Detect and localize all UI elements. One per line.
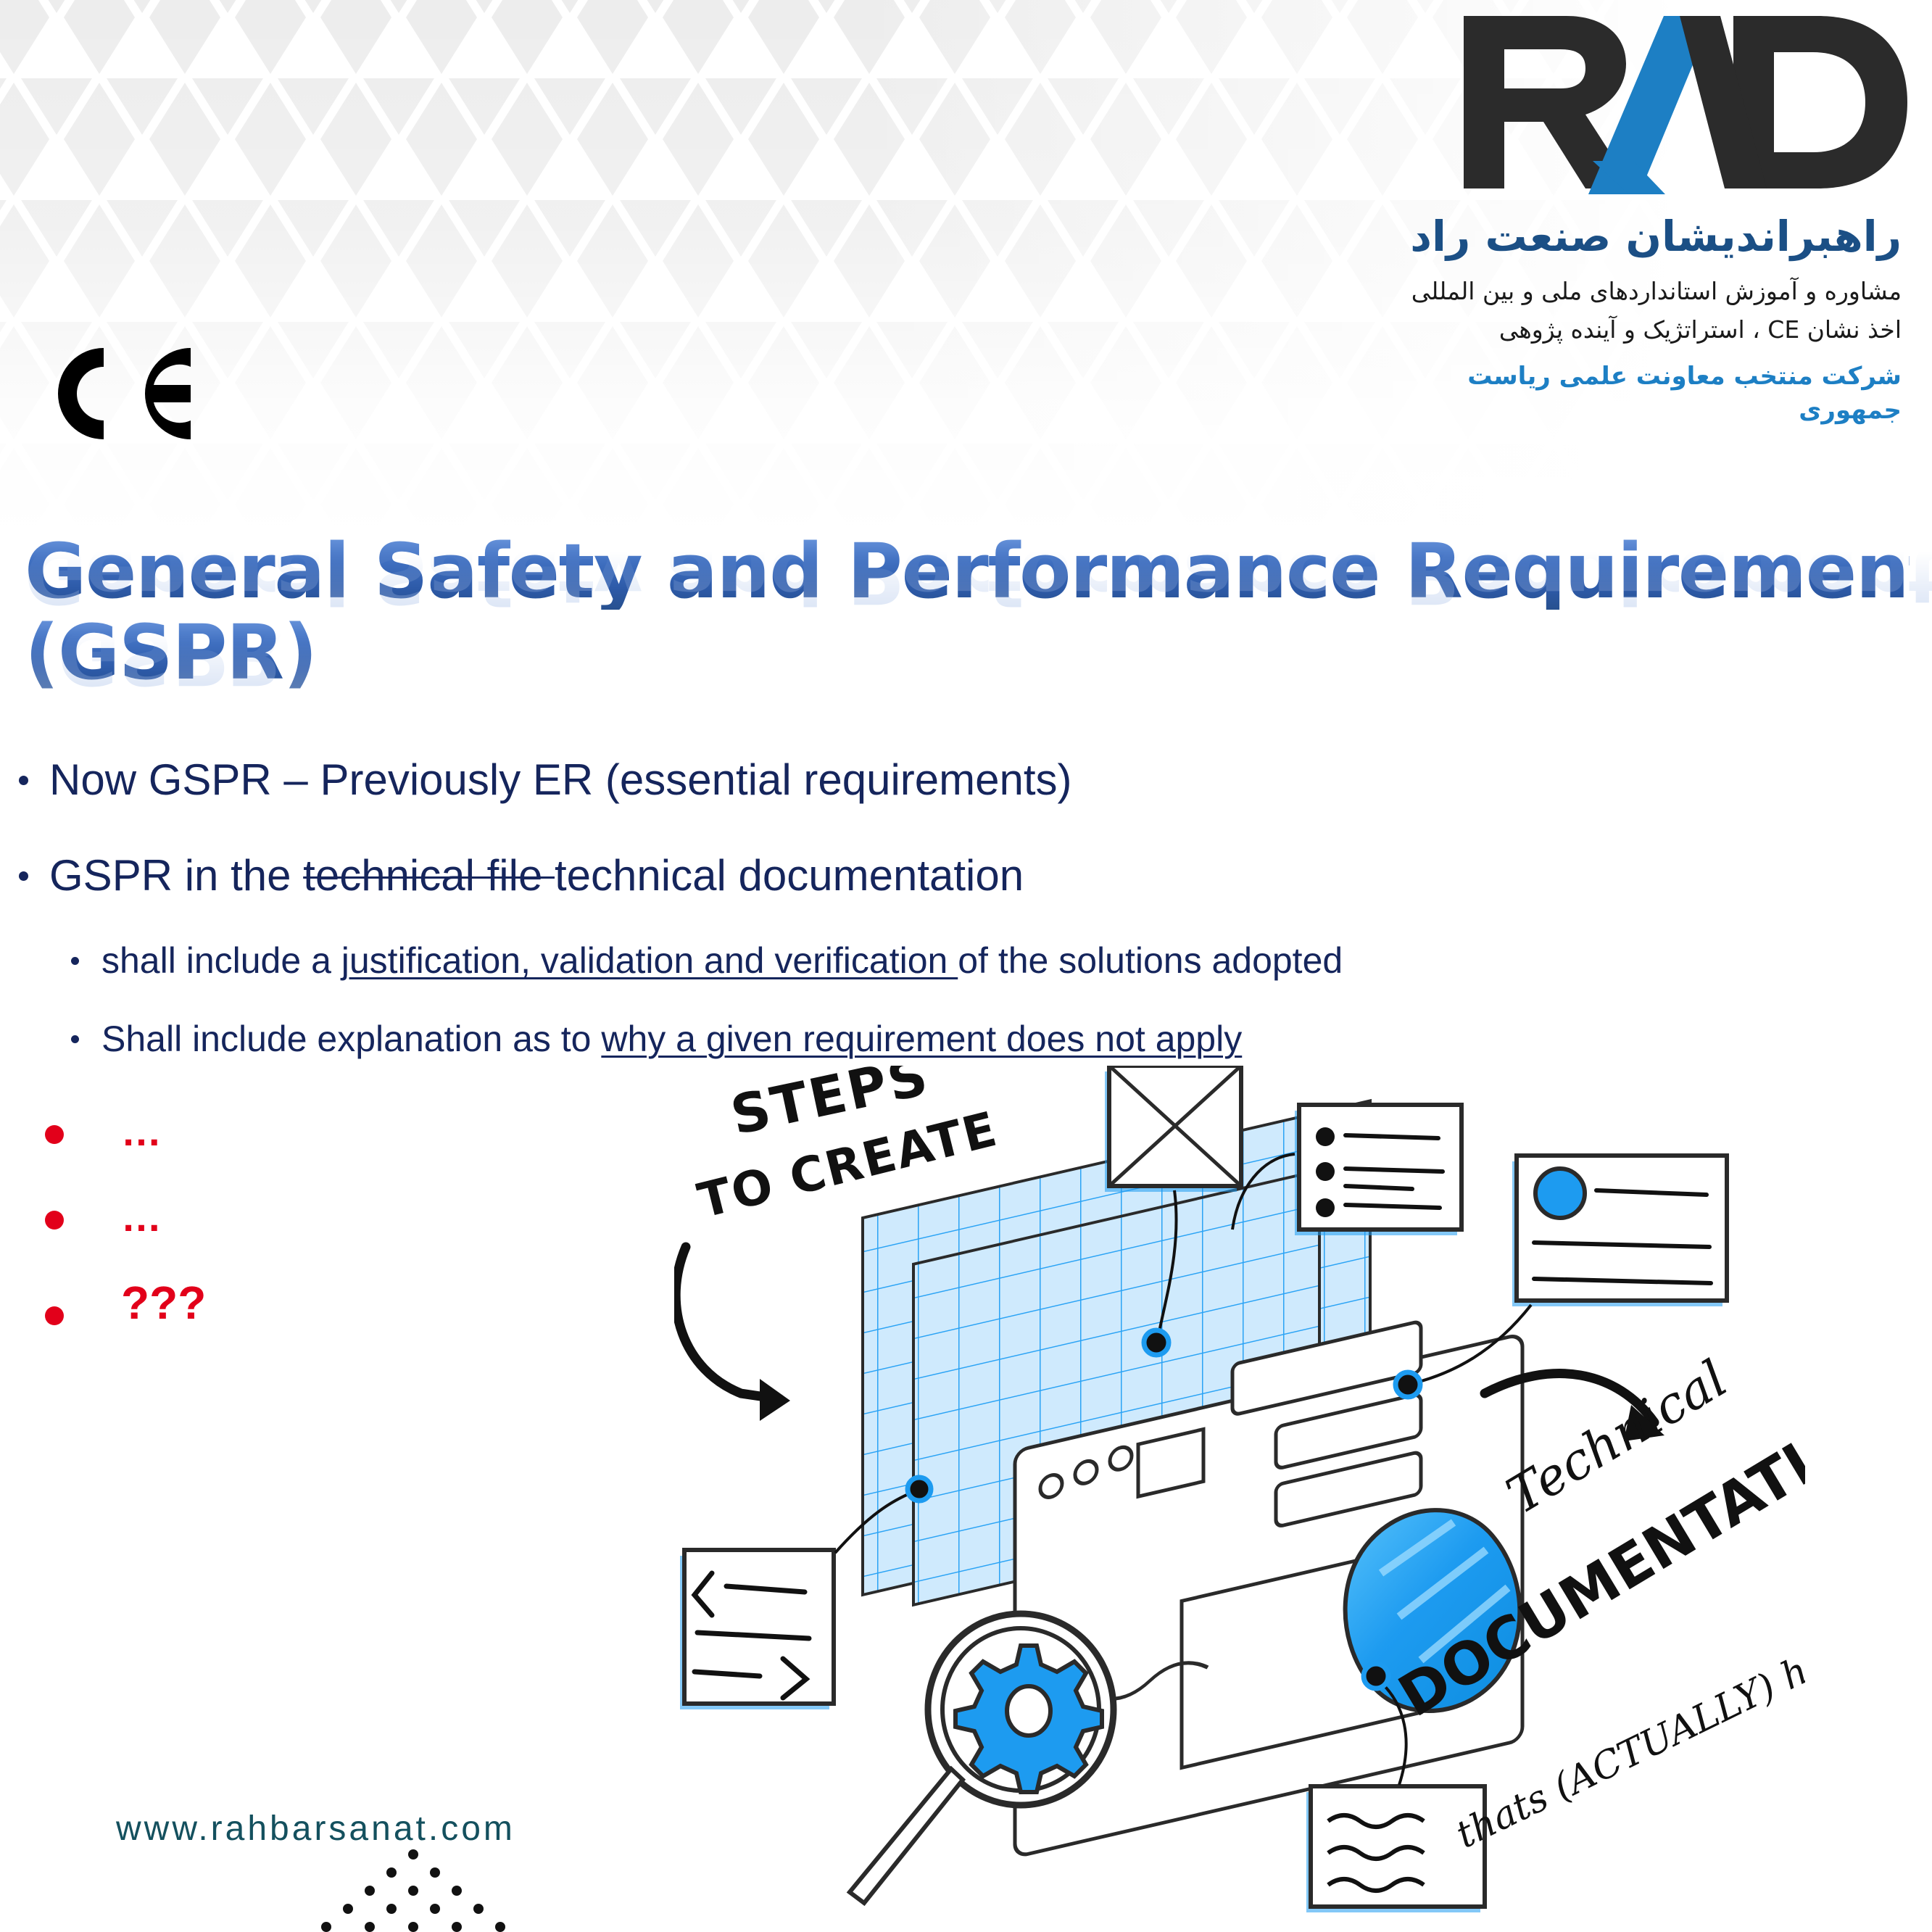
red-bullet-dot-icon <box>45 1211 64 1230</box>
bullet-dot-icon <box>71 1035 79 1043</box>
website-url[interactable]: www.rahbarsanat.com <box>116 1809 515 1849</box>
rad-logo-icon <box>1451 4 1915 200</box>
technical-documentation-illustration: STEPS TO CREATE <box>674 1066 1805 1921</box>
bullet-dot-icon <box>71 957 79 965</box>
bullet-item-4: Shall include explanation as to why a gi… <box>14 1021 1696 1057</box>
bullet-item-2-suffix: technical documentation <box>555 851 1024 900</box>
red-list-item-text: ??? <box>121 1277 206 1328</box>
company-tagline-line1: مشاوره و آموزش استانداردهای ملی و بین ال… <box>1364 273 1902 310</box>
ce-mark-icon <box>35 339 209 448</box>
red-bullet-dot-icon <box>45 1306 64 1325</box>
bullet-item-3-suffix: of the solutions adopted <box>958 940 1343 981</box>
triangle-dot-pattern <box>261 1847 565 1932</box>
bullet-item-1: Now GSPR – Previously ER (essential requ… <box>14 758 1696 802</box>
company-badge-fa: شرکت منتخب معاونت علمی ریاست جمهوری <box>1364 360 1902 428</box>
bullet-item-2-struck: technical file <box>303 851 555 900</box>
title-line-2: (GSPR) <box>25 614 1910 691</box>
company-logo-block: راهبراندیشان صنعت راد مشاوره و آموزش است… <box>1364 4 1915 428</box>
bullet-item-3-underlined: justification, validation and verificati… <box>341 940 958 981</box>
bullet-item-2-prefix: GSPR in the <box>49 851 303 900</box>
bullet-dot-icon <box>19 871 28 881</box>
page-title: General Safety and Performance Requireme… <box>25 533 1910 700</box>
bullet-item-3-prefix: shall include a <box>101 940 341 981</box>
checklist-card-icon <box>1295 1105 1462 1235</box>
text-lines-card-icon <box>1306 1786 1485 1912</box>
profile-card-icon <box>1512 1156 1727 1306</box>
company-tagline-line2: اخذ نشان CE ، استراتژیک و آینده پژوهی <box>1364 312 1902 348</box>
image-placeholder-icon <box>1105 1066 1241 1192</box>
gear-magnifier-icon <box>850 1614 1114 1903</box>
company-name-fa: راهبراندیشان صنعت راد <box>1364 210 1902 263</box>
bullet-item-3: shall include a justification, validatio… <box>14 942 1696 979</box>
title-line-1: General Safety and Performance Requireme… <box>25 533 1910 610</box>
code-card-icon <box>680 1550 834 1709</box>
slide-root: راهبراندیشان صنعت راد مشاوره و آموزش است… <box>0 0 1932 1932</box>
bullet-list: Now GSPR – Previously ER (essential requ… <box>14 758 1696 1057</box>
bullet-dot-icon <box>19 776 28 785</box>
red-list-item-text: … <box>121 1195 162 1240</box>
bullet-item-2: GSPR in the technical file technical doc… <box>14 854 1696 897</box>
bullet-item-1-text: Now GSPR – Previously ER (essential requ… <box>49 755 1072 804</box>
bullet-item-4-prefix: Shall include explanation as to <box>101 1019 601 1059</box>
curved-arrow-icon <box>676 1247 780 1399</box>
bullet-item-4-underlined: why a given requirement does not apply <box>601 1019 1242 1059</box>
red-list-item-text: … <box>121 1109 162 1154</box>
red-bullet-dot-icon <box>45 1125 64 1144</box>
